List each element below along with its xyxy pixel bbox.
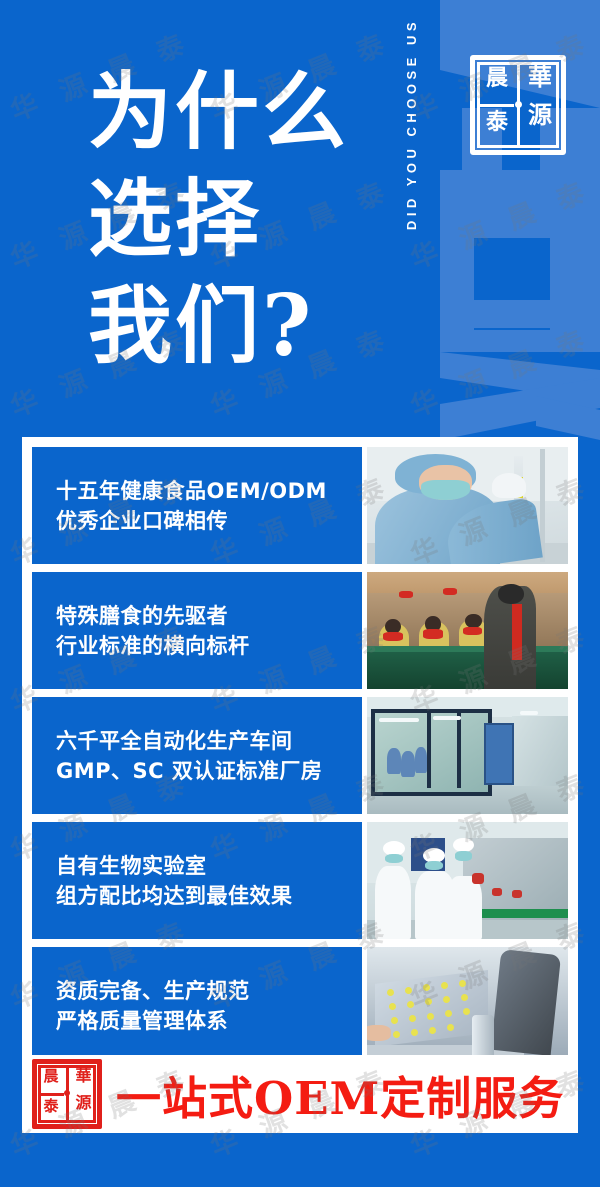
cta-seal-char-2: 源	[70, 1095, 97, 1111]
feature-line-1: 资质完备、生产规范	[56, 976, 362, 1006]
feature-line-2: 组方配比均达到最佳效果	[56, 881, 362, 911]
brand-seal-icon: 華 源 晨 泰	[470, 55, 566, 155]
title-line-3: 我们?	[88, 272, 388, 379]
feature-line-1: 特殊膳食的先驱者	[56, 601, 362, 631]
seal-char-3: 晨	[478, 67, 516, 89]
title-line-2: 选择	[88, 165, 388, 272]
feature-line-2: 严格质量管理体系	[56, 1006, 362, 1036]
feature-photo-conference-hall	[367, 572, 568, 689]
feature-row: 资质完备、生产规范 严格质量管理体系	[32, 947, 568, 1064]
feature-row: 十五年健康食品OEM/ODM 优秀企业口碑相传	[32, 447, 568, 564]
feature-list-panel: 十五年健康食品OEM/ODM 优秀企业口碑相传 特殊膳食的	[22, 437, 578, 1133]
cta-banner: 華 源 晨 泰 一站式OEM定制服务	[22, 1055, 578, 1133]
watermark-text: 华 源 晨 泰	[180, 1152, 421, 1187]
feature-line-2: 优秀企业口碑相传	[56, 506, 362, 536]
feature-text-block: 六千平全自动化生产车间 GMP、SC 双认证标准厂房	[32, 697, 362, 814]
feature-line-1: 十五年健康食品OEM/ODM	[56, 476, 362, 506]
cta-seal-char-3: 晨	[38, 1069, 64, 1084]
feature-row: 六千平全自动化生产车间 GMP、SC 双认证标准厂房	[32, 697, 568, 814]
feature-line-1: 六千平全自动化生产车间	[56, 726, 362, 756]
vertical-caption: DID YOU CHOOSE US	[398, 18, 424, 410]
brand-seal-icon-red: 華 源 晨 泰	[32, 1059, 102, 1129]
feature-photo-cleanroom-corridor	[367, 697, 568, 814]
feature-row: 特殊膳食的先驱者 行业标准的横向标杆	[32, 572, 568, 689]
cta-text: 一站式OEM定制服务	[116, 1062, 564, 1127]
seal-char-2: 源	[520, 103, 560, 127]
feature-photo-lab-technician	[367, 447, 568, 564]
cta-seal-char-4: 泰	[38, 1099, 64, 1114]
poster-root: DID YOU CHOOSE US 華 源 晨 泰 为什么 选择 我们? 十五年…	[0, 0, 600, 1187]
feature-text-block: 十五年健康食品OEM/ODM 优秀企业口碑相传	[32, 447, 362, 564]
feature-row: 自有生物实验室 组方配比均达到最佳效果	[32, 822, 568, 939]
page-title: 为什么 选择 我们?	[88, 58, 388, 379]
watermark-text: 华 源 晨 泰	[380, 1152, 600, 1187]
cta-seal-char-1: 華	[70, 1068, 97, 1084]
title-line-1: 为什么	[88, 58, 388, 165]
seal-char-1: 華	[520, 65, 560, 89]
feature-line-1: 自有生物实验室	[56, 851, 362, 881]
feature-text-block: 自有生物实验室 组方配比均达到最佳效果	[32, 822, 362, 939]
feature-text-block: 资质完备、生产规范 严格质量管理体系	[32, 947, 362, 1064]
watermark-text: 华 源 晨 泰	[0, 1152, 220, 1187]
feature-line-2: GMP、SC 双认证标准厂房	[56, 756, 362, 786]
feature-text-block: 特殊膳食的先驱者 行业标准的横向标杆	[32, 572, 362, 689]
feature-photo-blister-packing	[367, 947, 568, 1064]
feature-photo-production-line-workers	[367, 822, 568, 939]
seal-char-4: 泰	[478, 111, 516, 133]
vertical-caption-text: DID YOU CHOOSE US	[404, 18, 419, 230]
feature-line-2: 行业标准的横向标杆	[56, 631, 362, 661]
